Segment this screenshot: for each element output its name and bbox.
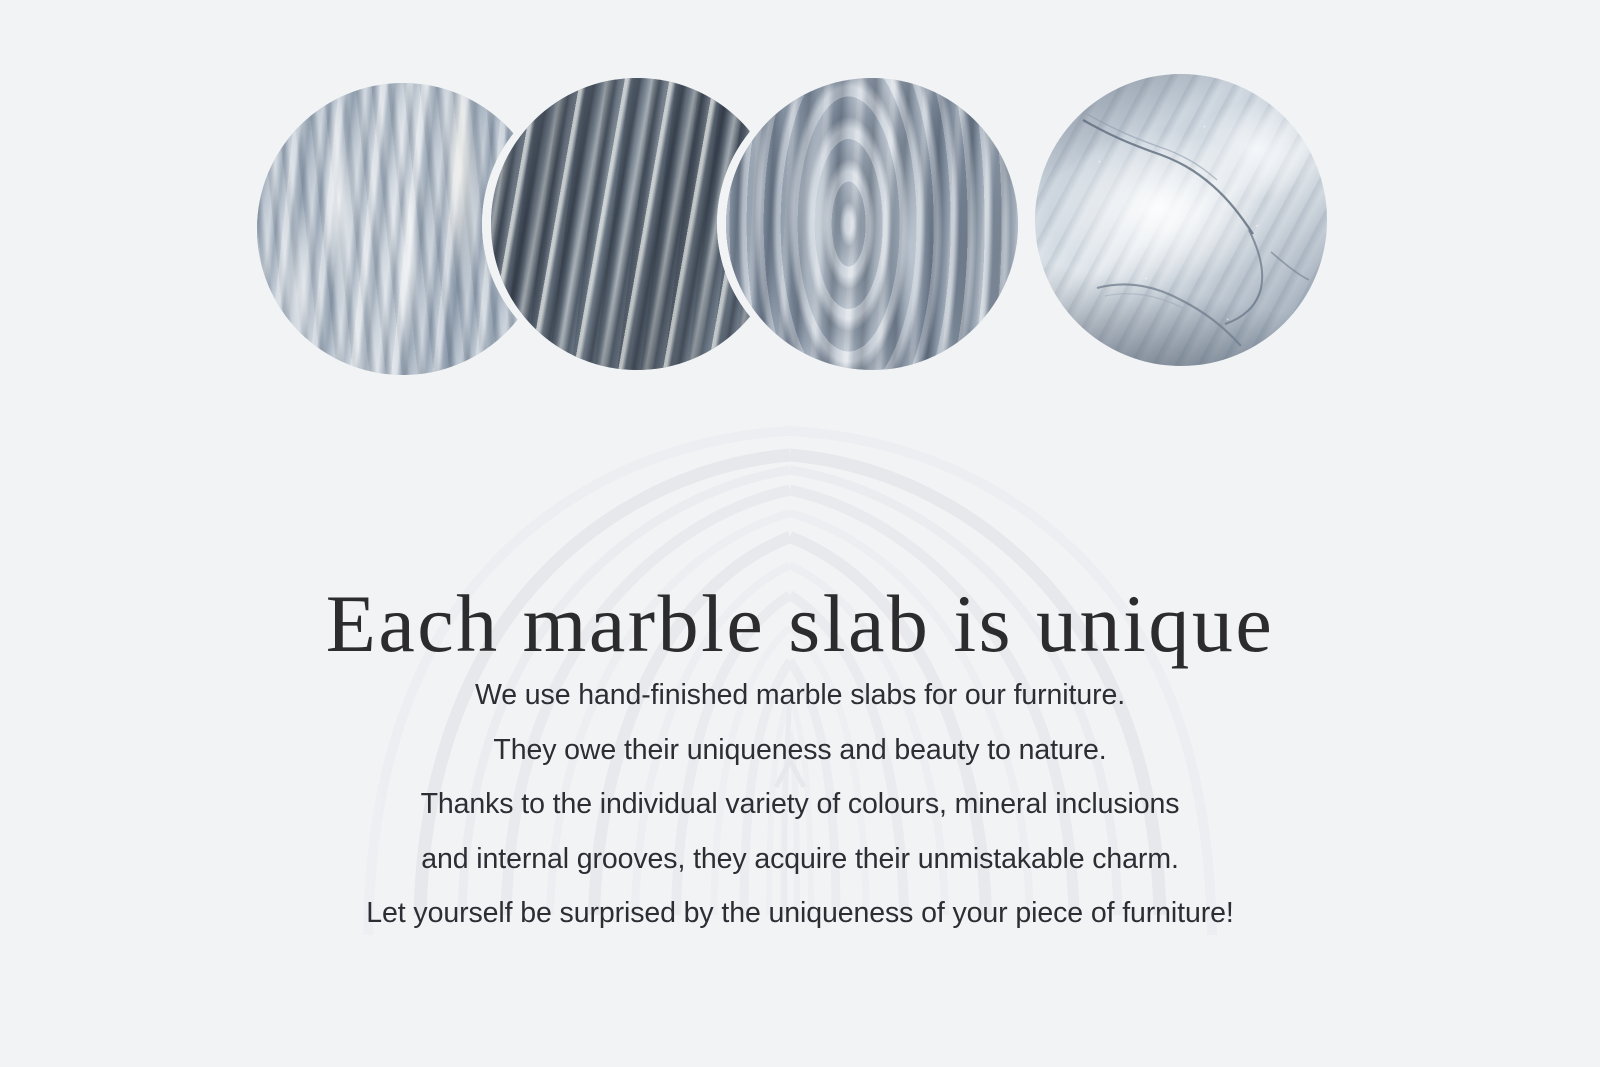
- description-line-5: Let yourself be surprised by the uniquen…: [0, 886, 1600, 941]
- marble-circle-3: [726, 78, 1018, 370]
- marble-crack-lines-4: [1035, 74, 1327, 366]
- marble-feature-section: Each marble slab is unique We use hand-f…: [0, 0, 1600, 1067]
- marble-texture-3: [726, 78, 1018, 370]
- marble-circle-gallery: [0, 0, 1600, 460]
- description-line-1: We use hand-finished marble slabs for ou…: [0, 668, 1600, 723]
- marble-circle-4: [1035, 74, 1327, 366]
- description-line-3: Thanks to the individual variety of colo…: [0, 777, 1600, 832]
- description-line-4: and internal grooves, they acquire their…: [0, 832, 1600, 887]
- description-paragraph: We use hand-finished marble slabs for ou…: [0, 668, 1600, 941]
- description-line-2: They owe their uniqueness and beauty to …: [0, 723, 1600, 778]
- page-title: Each marble slab is unique: [0, 583, 1600, 665]
